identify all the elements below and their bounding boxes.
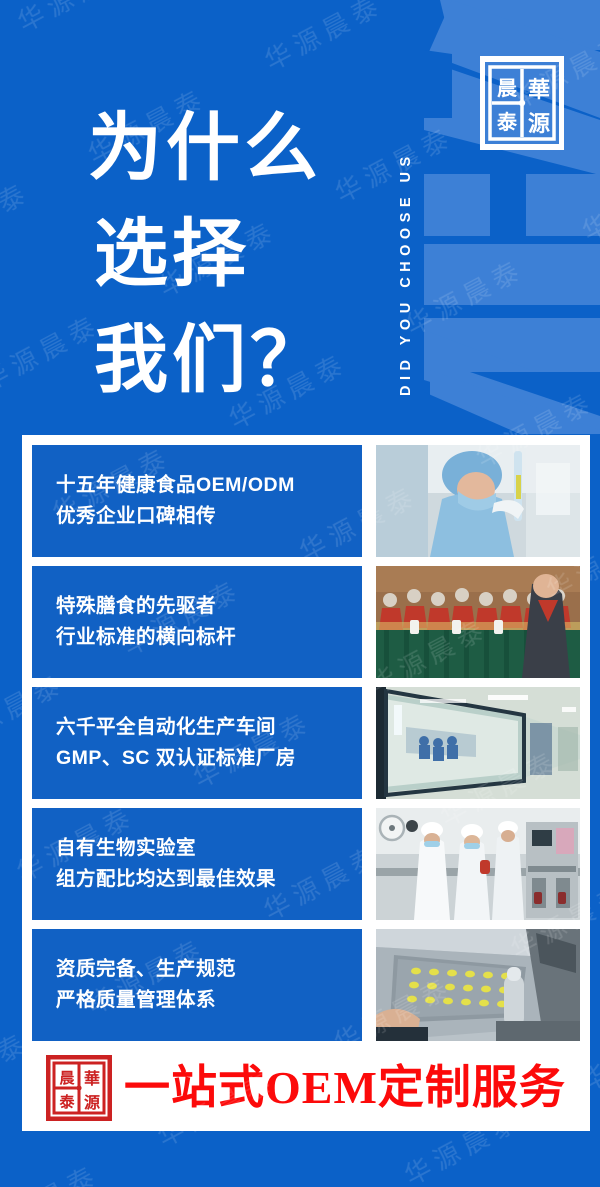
feature-line-2: GMP、SC 双认证标准厂房 bbox=[56, 743, 362, 774]
svg-text:晨: 晨 bbox=[497, 77, 518, 100]
feature-row[interactable]: 特殊膳食的先驱者 行业标准的横向标杆 bbox=[32, 566, 580, 678]
feature-card[interactable]: 资质完备、生产规范 严格质量管理体系 bbox=[32, 929, 362, 1041]
feature-card[interactable]: 六千平全自动化生产车间 GMP、SC 双认证标准厂房 bbox=[32, 687, 362, 799]
feature-line-2: 行业标准的横向标杆 bbox=[56, 622, 362, 653]
title-line-3: 我们？ bbox=[88, 308, 388, 414]
svg-text:源: 源 bbox=[84, 1093, 100, 1112]
svg-text:華: 華 bbox=[528, 77, 550, 102]
photo-cleanroom-corridor bbox=[376, 687, 580, 799]
brand-seal-red-icon: 晨 泰 華 源 bbox=[46, 1055, 112, 1121]
hero-section: 为什么 选择 我们？ DID YOU CHOOSE US 晨 泰 華 源 bbox=[0, 0, 600, 435]
photo-capsule-packaging-machine bbox=[376, 929, 580, 1041]
photo-production-line-workers bbox=[376, 808, 580, 920]
feature-line-2: 严格质量管理体系 bbox=[56, 985, 362, 1016]
cta-text: 一站式OEM定制服务 bbox=[124, 1061, 566, 1115]
svg-text:源: 源 bbox=[528, 111, 550, 136]
feature-line-1: 特殊膳食的先驱者 bbox=[56, 591, 362, 622]
feature-row[interactable]: 六千平全自动化生产车间 GMP、SC 双认证标准厂房 bbox=[32, 687, 580, 799]
svg-text:晨: 晨 bbox=[59, 1069, 75, 1087]
photo-conference-audience bbox=[376, 566, 580, 678]
feature-card[interactable]: 十五年健康食品OEM/ODM 优秀企业口碑相传 bbox=[32, 445, 362, 557]
brand-seal-white-icon: 晨 泰 華 源 bbox=[480, 55, 564, 151]
feature-row[interactable]: 自有生物实验室 组方配比均达到最佳效果 bbox=[32, 808, 580, 920]
feature-line-1: 资质完备、生产规范 bbox=[56, 954, 362, 985]
feature-card[interactable]: 自有生物实验室 组方配比均达到最佳效果 bbox=[32, 808, 362, 920]
svg-text:華: 華 bbox=[84, 1069, 100, 1088]
feature-line-1: 十五年健康食品OEM/ODM bbox=[56, 470, 362, 501]
svg-text:泰: 泰 bbox=[496, 110, 518, 134]
feature-row[interactable]: 十五年健康食品OEM/ODM 优秀企业口碑相传 bbox=[32, 445, 580, 557]
title-line-1: 为什么 bbox=[88, 96, 388, 202]
feature-row[interactable]: 资质完备、生产规范 严格质量管理体系 bbox=[32, 929, 580, 1041]
feature-list: 十五年健康食品OEM/ODM 优秀企业口碑相传 bbox=[32, 445, 580, 1050]
feature-card[interactable]: 特殊膳食的先驱者 行业标准的横向标杆 bbox=[32, 566, 362, 678]
photo-lab-technician-pipetting bbox=[376, 445, 580, 557]
feature-line-2: 优秀企业口碑相传 bbox=[56, 501, 362, 532]
feature-line-2: 组方配比均达到最佳效果 bbox=[56, 864, 362, 895]
page-title: 为什么 选择 我们？ bbox=[88, 96, 388, 414]
svg-text:泰: 泰 bbox=[58, 1093, 75, 1111]
feature-line-1: 自有生物实验室 bbox=[56, 833, 362, 864]
vertical-eyebrow-text: DID YOU CHOOSE US bbox=[398, 20, 426, 396]
feature-panel: 十五年健康食品OEM/ODM 优秀企业口碑相传 bbox=[22, 435, 590, 1131]
feature-line-1: 六千平全自动化生产车间 bbox=[56, 712, 362, 743]
title-line-2: 选择 bbox=[88, 202, 388, 308]
cta-bar[interactable]: 晨 泰 華 源 一站式OEM定制服务 bbox=[32, 1051, 580, 1125]
